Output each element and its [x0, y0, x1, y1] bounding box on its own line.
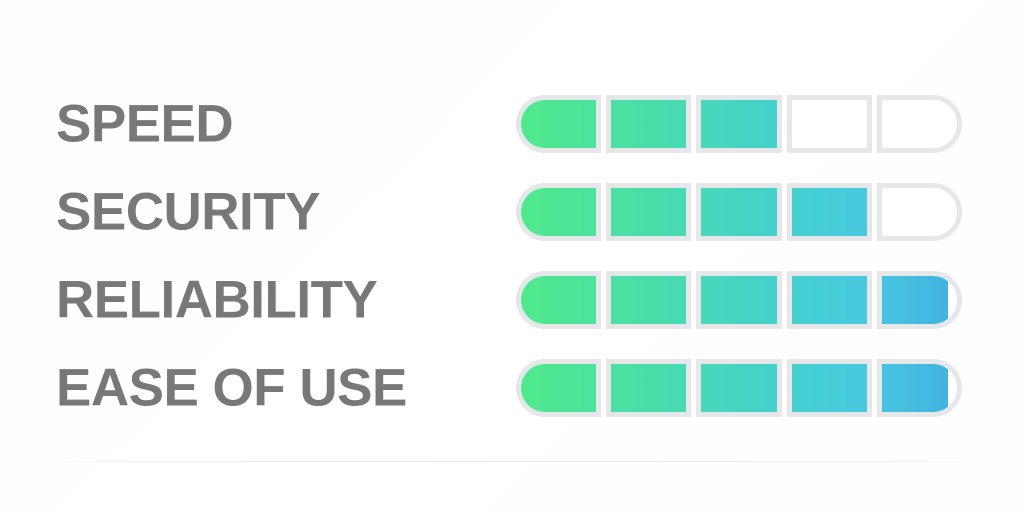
- rating-segment[interactable]: [877, 183, 962, 241]
- rating-segment[interactable]: [787, 95, 872, 153]
- rating-row: EASE OF USE: [0, 344, 1024, 432]
- rating-segment[interactable]: [787, 183, 872, 241]
- segment-fill: [521, 276, 601, 324]
- segment-fill: [606, 276, 691, 324]
- rating-bar-speed[interactable]: [516, 95, 962, 153]
- segment-fill: [696, 188, 781, 236]
- rating-segment[interactable]: [606, 183, 691, 241]
- segment-fill: [696, 364, 781, 412]
- rating-label-security: SECURITY: [56, 186, 320, 239]
- rating-segment[interactable]: [696, 271, 781, 329]
- segment-fill: [521, 188, 601, 236]
- rating-segment[interactable]: [606, 95, 691, 153]
- rating-segment[interactable]: [606, 271, 691, 329]
- rating-label-ease-of-use: EASE OF USE: [56, 362, 407, 415]
- segment-fill: [877, 364, 948, 412]
- rating-segment[interactable]: [696, 359, 781, 417]
- rating-segment[interactable]: [877, 359, 962, 417]
- rating-segment[interactable]: [877, 271, 962, 329]
- rating-widget: SPEED SECURITY RELIABILITY: [0, 0, 1024, 512]
- rating-segment[interactable]: [696, 183, 781, 241]
- rating-segment[interactable]: [787, 359, 872, 417]
- segment-fill: [521, 100, 601, 148]
- segment-fill: [521, 364, 601, 412]
- rating-bar-ease-of-use[interactable]: [516, 359, 962, 417]
- rating-segment[interactable]: [606, 359, 691, 417]
- rating-segment[interactable]: [516, 183, 601, 241]
- rating-segment[interactable]: [516, 271, 601, 329]
- segment-fill: [787, 364, 872, 412]
- rating-label-reliability: RELIABILITY: [56, 274, 377, 327]
- rating-row: RELIABILITY: [0, 256, 1024, 344]
- segment-fill: [877, 276, 948, 324]
- segment-fill: [606, 188, 691, 236]
- rating-rows-container: SPEED SECURITY RELIABILITY: [0, 80, 1024, 432]
- rating-segment[interactable]: [516, 95, 601, 153]
- segment-fill: [696, 276, 781, 324]
- segment-fill: [606, 100, 691, 148]
- rating-row: SECURITY: [0, 168, 1024, 256]
- segment-fill: [787, 188, 872, 236]
- rating-segment[interactable]: [516, 359, 601, 417]
- rating-label-speed: SPEED: [56, 98, 233, 151]
- rating-segment[interactable]: [696, 95, 781, 153]
- segment-fill: [696, 100, 781, 148]
- rating-row: SPEED: [0, 80, 1024, 168]
- rating-bar-security[interactable]: [516, 183, 962, 241]
- bottom-divider: [0, 461, 1024, 462]
- rating-bar-reliability[interactable]: [516, 271, 962, 329]
- segment-fill: [606, 364, 691, 412]
- rating-segment[interactable]: [787, 271, 872, 329]
- segment-fill: [787, 276, 872, 324]
- rating-segment[interactable]: [877, 95, 962, 153]
